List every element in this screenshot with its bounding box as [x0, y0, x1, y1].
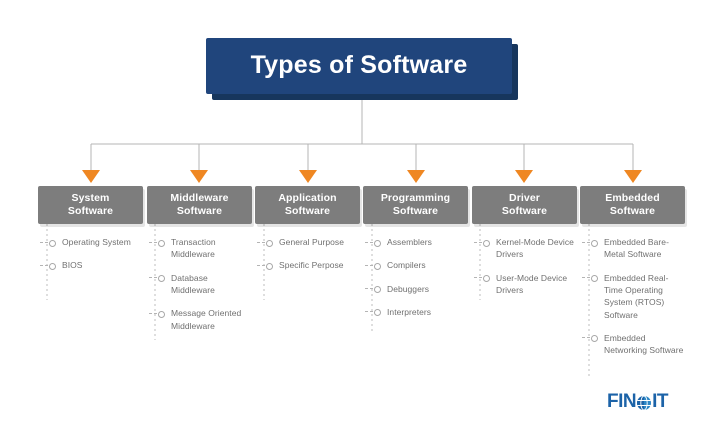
category-header-line: Programming — [381, 192, 450, 205]
category-header-driver[interactable]: DriverSoftware — [472, 186, 577, 224]
bullet-circle-icon — [591, 335, 598, 342]
bullet-circle-icon — [49, 240, 56, 247]
connector-stub — [257, 242, 265, 243]
category-header-line: Application — [278, 192, 336, 205]
list-item-label: General Purpose — [279, 237, 344, 247]
bullet-circle-icon — [374, 309, 381, 316]
list-item[interactable]: Embedded Real-Time Operating System (RTO… — [604, 272, 685, 321]
list-item[interactable]: Transaction Middleware — [171, 236, 252, 261]
bullet-circle-icon — [158, 240, 165, 247]
bullet-circle-icon — [591, 275, 598, 282]
list-item[interactable]: User-Mode Device Drivers — [496, 272, 577, 297]
list-item-label: Transaction Middleware — [171, 237, 216, 259]
category-item-list: General PurposeSpecific Perpose — [255, 236, 360, 272]
bullet-circle-icon — [49, 263, 56, 270]
category-header-line: Software — [177, 205, 222, 218]
category-column: ApplicationSoftwareGeneral PurposeSpecif… — [255, 186, 360, 283]
list-item[interactable]: Interpreters — [387, 306, 468, 318]
list-item[interactable]: BIOS — [62, 259, 143, 271]
list-item[interactable]: General Purpose — [279, 236, 360, 248]
list-item[interactable]: Database Middleware — [171, 272, 252, 297]
category-item-list: Transaction MiddlewareDatabase Middlewar… — [147, 236, 252, 332]
connector-stub — [257, 265, 265, 266]
list-item[interactable]: Operating System — [62, 236, 143, 248]
category-header-line: Software — [68, 205, 113, 218]
list-item-label: Debuggers — [387, 284, 429, 294]
bullet-circle-icon — [374, 286, 381, 293]
category-item-list: Operating SystemBIOS — [38, 236, 143, 272]
logo-text-left: FIN — [607, 392, 636, 411]
category-header-embedded[interactable]: EmbeddedSoftware — [580, 186, 685, 224]
category-column: SystemSoftwareOperating SystemBIOS — [38, 186, 143, 283]
category-item-list: Embedded Bare-Metal SoftwareEmbedded Rea… — [580, 236, 685, 357]
connector-stub — [582, 337, 590, 338]
category-header-line: System — [72, 192, 110, 205]
list-item-label: BIOS — [62, 260, 83, 270]
list-item-label: Message Oriented Middleware — [171, 308, 241, 330]
list-item-label: Compilers — [387, 260, 426, 270]
list-item[interactable]: Debuggers — [387, 283, 468, 295]
connector-stub — [365, 288, 373, 289]
list-item-label: Kernel-Mode Device Drivers — [496, 237, 574, 259]
list-item-label: Operating System — [62, 237, 131, 247]
diagram-canvas: Types of Software SystemSoftwareOperatin… — [0, 0, 720, 424]
diagram-title-box: Types of Software — [206, 38, 518, 100]
category-column: DriverSoftwareKernel-Mode Device Drivers… — [472, 186, 577, 307]
bullet-circle-icon — [266, 263, 273, 270]
bullet-circle-icon — [483, 275, 490, 282]
connector-stub — [149, 242, 157, 243]
list-item[interactable]: Kernel-Mode Device Drivers — [496, 236, 577, 261]
connector-stub — [365, 265, 373, 266]
category-header-line: Middleware — [170, 192, 228, 205]
category-header-application[interactable]: ApplicationSoftware — [255, 186, 360, 224]
title-box-face: Types of Software — [206, 38, 512, 94]
category-header-line: Software — [610, 205, 655, 218]
list-item[interactable]: Assemblers — [387, 236, 468, 248]
list-item[interactable]: Embedded Networking Software — [604, 332, 685, 357]
bullet-circle-icon — [158, 275, 165, 282]
connector-stub — [474, 242, 482, 243]
bullet-circle-icon — [483, 240, 490, 247]
category-item-list: AssemblersCompilersDebuggersInterpreters — [363, 236, 468, 318]
list-item[interactable]: Specific Perpose — [279, 259, 360, 271]
brand-logo: FIN IT — [607, 392, 668, 411]
list-item-label: Embedded Bare-Metal Software — [604, 237, 669, 259]
category-header-line: Software — [285, 205, 330, 218]
category-header-line: Driver — [509, 192, 540, 205]
list-item-label: Embedded Real-Time Operating System (RTO… — [604, 273, 669, 320]
bullet-circle-icon — [374, 263, 381, 270]
connector-stub — [582, 242, 590, 243]
bullet-circle-icon — [591, 240, 598, 247]
category-header-line: Software — [502, 205, 547, 218]
category-item-list: Kernel-Mode Device DriversUser-Mode Devi… — [472, 236, 577, 296]
list-item-label: Specific Perpose — [279, 260, 344, 270]
category-header-line: Software — [393, 205, 438, 218]
list-item-label: Assemblers — [387, 237, 432, 247]
bullet-circle-icon — [158, 311, 165, 318]
connector-stub — [474, 277, 482, 278]
list-item-label: Embedded Networking Software — [604, 333, 683, 355]
category-header-programming[interactable]: ProgrammingSoftware — [363, 186, 468, 224]
connector-stub — [40, 242, 48, 243]
connector-stub — [149, 277, 157, 278]
bullet-circle-icon — [374, 240, 381, 247]
connector-stub — [365, 311, 373, 312]
connector-stub — [365, 242, 373, 243]
list-item[interactable]: Message Oriented Middleware — [171, 307, 252, 332]
category-column: ProgrammingSoftwareAssemblersCompilersDe… — [363, 186, 468, 329]
category-header-middleware[interactable]: MiddlewareSoftware — [147, 186, 252, 224]
connector-stub — [149, 313, 157, 314]
globe-icon — [636, 395, 652, 411]
connector-stub — [40, 265, 48, 266]
page-title: Types of Software — [251, 52, 468, 80]
list-item[interactable]: Embedded Bare-Metal Software — [604, 236, 685, 261]
category-header-line: Embedded — [605, 192, 659, 205]
list-item[interactable]: Compilers — [387, 259, 468, 271]
list-item-label: Database Middleware — [171, 273, 215, 295]
list-item-label: User-Mode Device Drivers — [496, 273, 567, 295]
category-column: EmbeddedSoftwareEmbedded Bare-Metal Soft… — [580, 186, 685, 368]
list-item-label: Interpreters — [387, 307, 431, 317]
bullet-circle-icon — [266, 240, 273, 247]
connector-stub — [582, 277, 590, 278]
logo-text-right: IT — [652, 392, 668, 411]
category-header-system[interactable]: SystemSoftware — [38, 186, 143, 224]
category-column: MiddlewareSoftwareTransaction Middleware… — [147, 186, 252, 343]
